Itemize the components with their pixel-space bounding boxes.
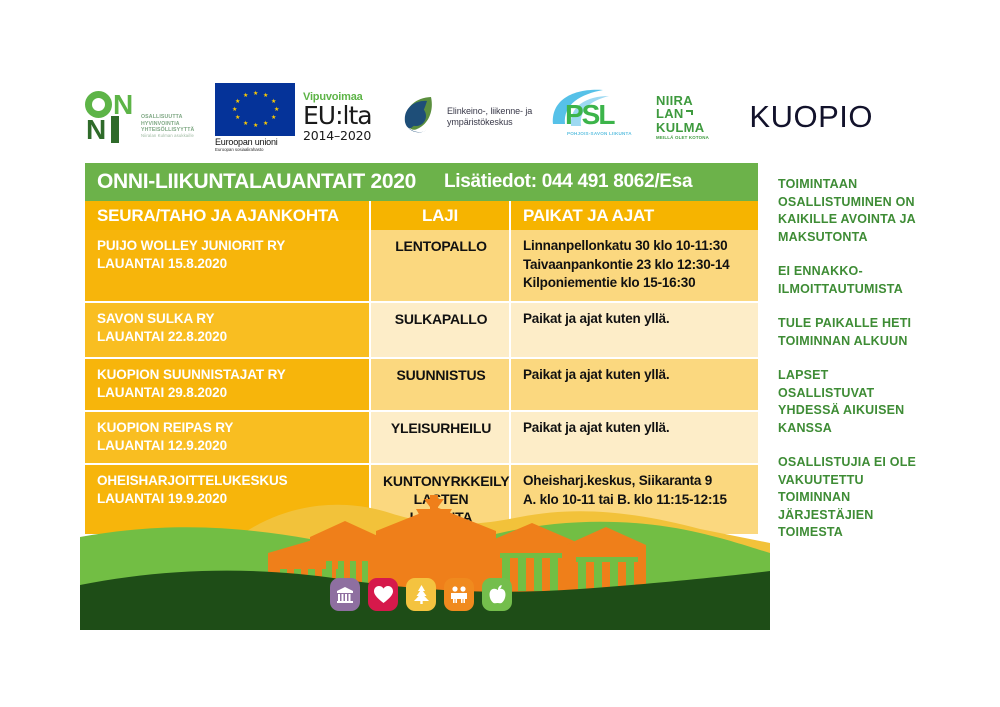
table-row: KUOPION REIPAS RY LAUANTAI 12.9.2020 YLE… [85, 411, 758, 464]
apple-icon [482, 578, 512, 611]
who-name: PUIJO WOLLEY JUNIORIT RY [97, 237, 359, 255]
who-name: KUOPION SUUNNISTAJAT RY [97, 366, 359, 384]
who-date: LAUANTAI 29.8.2020 [97, 384, 359, 402]
place-line: Paikat ja ajat kuten yllä. [523, 310, 748, 329]
cell-place: Paikat ja ajat kuten yllä. [510, 358, 758, 411]
table-row: SAVON SULKA RY LAUANTAI 22.8.2020 SULKAP… [85, 302, 758, 358]
poster-title: ONNI-LIIKUNTALAUANTAIT 2020 [97, 170, 416, 194]
cell-sport: SUUNNISTUS [370, 358, 510, 411]
who-date: LAUANTAI 22.8.2020 [97, 328, 359, 346]
heart-icon [368, 578, 398, 611]
place-line: Kilponiementie klo 15-16:30 [523, 274, 748, 293]
nk-line2: LAN [656, 107, 693, 121]
logo-strip: N N OSALLISUUTTA HYVINVOINTIA YHTEISÖLLI… [85, 82, 895, 152]
onni-mark-icon: N N [85, 91, 137, 143]
column-header-who: SEURA/TAHO JA AJANKOHTA [85, 201, 370, 230]
contact-info: Lisätiedot: 044 491 8062/Esa [444, 171, 692, 193]
place-line: Linnanpellonkatu 30 klo 10-11:30 [523, 237, 748, 256]
ely-leaf-icon [401, 96, 441, 138]
psl-logo: PSL POHJOIS-SAVON LIIKUNTA [551, 82, 656, 152]
who-name: KUOPION REIPAS RY [97, 419, 359, 437]
table-title-bar: ONNI-LIIKUNTALAUANTAIT 2020 Lisätiedot: … [85, 163, 758, 201]
vipuvoimaa-line3: 2014–2020 [303, 128, 371, 143]
sport-name: LENTOPALLO [383, 237, 499, 255]
ely-caption: Elinkeino-, liikenne- ja ympäristökeskus [447, 106, 532, 128]
cell-place: Paikat ja ajat kuten yllä. [510, 302, 758, 358]
table-row: KUOPION SUUNNISTAJAT RY LAUANTAI 29.8.20… [85, 358, 758, 411]
note-item: TULE PAIKALLE HETI TOIMINNAN ALKUUN [778, 315, 928, 350]
place-line: Taivaanpankontie 23 klo 12:30-14 [523, 256, 748, 275]
eu-caption: Euroopan unioni [215, 137, 278, 147]
cell-place: Linnanpellonkatu 30 klo 10-11:30 Taivaan… [510, 230, 758, 302]
psl-subcaption: POHJOIS-SAVON LIIKUNTA [567, 131, 632, 136]
who-name: SAVON SULKA RY [97, 310, 359, 328]
place-line: Paikat ja ajat kuten yllä. [523, 366, 748, 385]
cell-who: KUOPION SUUNNISTAJAT RY LAUANTAI 29.8.20… [85, 358, 370, 411]
table-header-row: SEURA/TAHO JA AJANKOHTA LAJI PAIKAT JA A… [85, 201, 758, 230]
nk-tick-icon [686, 110, 693, 115]
nk-line3: KULMA [656, 121, 704, 135]
nk-line2-text: LAN [656, 106, 684, 121]
cell-sport: YLEISURHEILU [370, 411, 510, 464]
eu-flag-icon: ★★ ★★ ★★ ★★ ★★ ★★ [215, 83, 295, 136]
notes-sidebar: TOIMINTAAN OSALLISTUMINEN ON KAIKILLE AV… [778, 176, 928, 542]
table-row: PUIJO WOLLEY JUNIORIT RY LAUANTAI 15.8.2… [85, 230, 758, 302]
people-icon [444, 578, 474, 611]
cell-who: KUOPION REIPAS RY LAUANTAI 12.9.2020 [85, 411, 370, 464]
note-item: OSALLISTUJIA EI OLE VAKUUTETTU TOIMINNAN… [778, 454, 928, 542]
psl-wordmark: PSL [565, 99, 613, 131]
sport-name: SULKAPALLO [383, 310, 499, 328]
who-name: OHEISHARJOITTELUKESKUS [97, 472, 359, 490]
vipuvoimaa-logo: Vipuvoimaa EU:lta 2014–2020 [303, 82, 401, 152]
note-item: LAPSET OSALLISTUVAT YHDESSÄ AIKUISEN KAN… [778, 367, 928, 437]
note-item: TOIMINTAAN OSALLISTUMINEN ON KAIKILLE AV… [778, 176, 928, 246]
niiralan-kulma-logo: NIIRA LAN KULMA MEILLÄ OLET KOTONA [656, 82, 748, 152]
cell-who: PUIJO WOLLEY JUNIORIT RY LAUANTAI 15.8.2… [85, 230, 370, 302]
column-header-place: PAIKAT JA AJAT [510, 201, 758, 230]
nk-subcaption: MEILLÄ OLET KOTONA [656, 135, 709, 140]
place-line: Paikat ja ajat kuten yllä. [523, 419, 748, 438]
sport-name: KUNTONYRKKEILY [383, 472, 499, 490]
column-header-sport: LAJI [370, 201, 510, 230]
sport-name: YLEISURHEILU [383, 419, 499, 437]
cell-sport: LENTOPALLO [370, 230, 510, 302]
kuopio-wordmark: KUOPIO [749, 99, 873, 135]
eu-subcaption: Euroopan sosiaalirahasto [215, 147, 263, 152]
eu-logo: ★★ ★★ ★★ ★★ ★★ ★★ Euroopan unioni Euroop… [215, 82, 303, 152]
kuopio-logo: KUOPIO [748, 82, 873, 152]
vipuvoimaa-line2: EU:lta [303, 103, 372, 128]
place-line: Oheisharj.keskus, Siikaranta 9 [523, 472, 748, 491]
poster: N N OSALLISUUTTA HYVINVOINTIA YHTEISÖLLI… [0, 0, 1000, 707]
sport-name: SUUNNISTUS [383, 366, 499, 384]
schedule-table: ONNI-LIIKUNTALAUANTAIT 2020 Lisätiedot: … [85, 163, 758, 534]
nk-line1: NIIRA [656, 94, 693, 108]
who-date: LAUANTAI 12.9.2020 [97, 437, 359, 455]
cell-place: Paikat ja ajat kuten yllä. [510, 411, 758, 464]
onni-tagline: OSALLISUUTTA HYVINVOINTIA YHTEISÖLLISYYT… [141, 94, 194, 140]
theme-icon-row [330, 578, 512, 611]
market-hall-icon [330, 578, 360, 611]
who-date: LAUANTAI 15.8.2020 [97, 255, 359, 273]
note-item: EI ENNAKKO-ILMOITTAUTUMISTA [778, 263, 928, 298]
cell-who: SAVON SULKA RY LAUANTAI 22.8.2020 [85, 302, 370, 358]
pine-tree-icon [406, 578, 436, 611]
onni-logo: N N OSALLISUUTTA HYVINVOINTIA YHTEISÖLLI… [85, 82, 215, 152]
ely-logo: Elinkeino-, liikenne- ja ympäristökeskus [401, 82, 551, 152]
cell-sport: SULKAPALLO [370, 302, 510, 358]
